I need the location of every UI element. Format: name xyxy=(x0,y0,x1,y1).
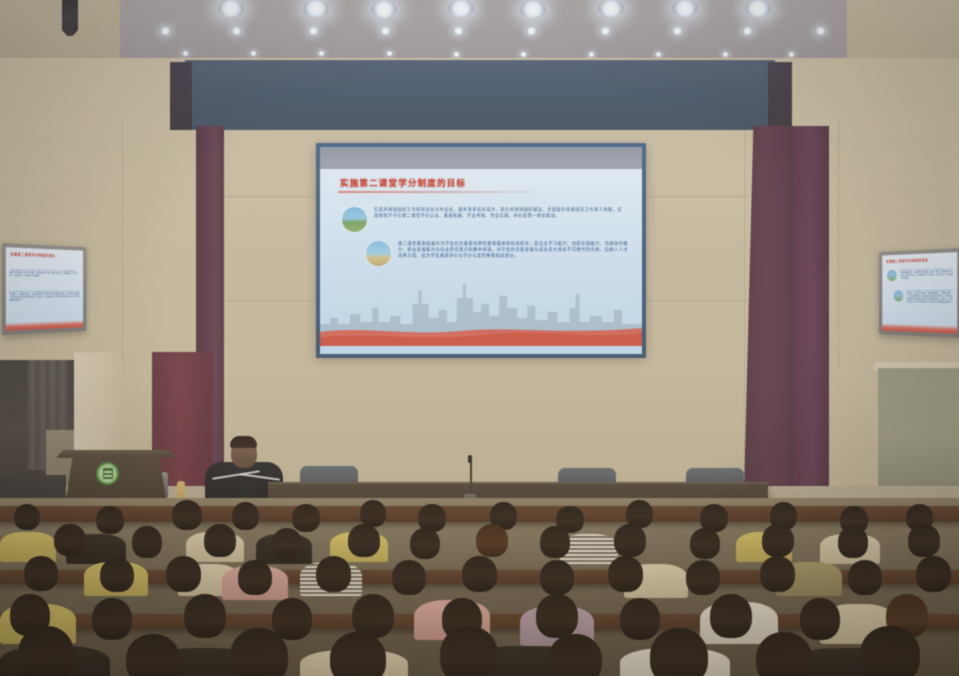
audience-head xyxy=(166,556,201,592)
audience-head xyxy=(860,626,920,676)
audience-head xyxy=(126,634,180,676)
stage-valance xyxy=(185,60,775,130)
audience-head xyxy=(686,560,720,595)
audience-head xyxy=(476,524,508,557)
stage-curtain-right-outer xyxy=(793,126,829,496)
monitor-slide-text: 实现共青团组织工作的常态化与专业化，服务青年成长成才，助力共青团组织建设，全面提… xyxy=(900,268,954,282)
screen-surface: 实施第二课堂学分制度的目标 实现共青团组织工作的常态化与专业化，服务青年成长成才… xyxy=(320,147,642,354)
audience-head xyxy=(96,506,124,534)
recessed-downlight xyxy=(250,51,257,56)
recessed-downlight xyxy=(722,52,729,57)
red-wave-graphic xyxy=(320,322,642,346)
audience-head xyxy=(360,500,386,527)
slide-title-underline xyxy=(338,191,538,193)
monitor-slide-text: 实现共青团组织工作的常态化与专业化，服务青年成长成才，助力共青团组织建设，全面提… xyxy=(10,269,79,287)
monitor-red-wave xyxy=(882,323,957,334)
recessed-downlight xyxy=(600,27,611,35)
audience-head xyxy=(650,628,708,676)
recessed-downlight xyxy=(788,52,795,57)
recessed-downlight xyxy=(318,51,325,56)
recessed-downlight xyxy=(520,1,546,18)
audience-head xyxy=(908,524,940,557)
monitor-slide-title: 实施第二课堂学分制度的目标 xyxy=(886,257,928,263)
monitor-slide-text: 第二课堂素质拓展作为学生综合素质培养的重要载体和有效抓手，是自主学习能力、创新实… xyxy=(10,291,80,307)
audience-head xyxy=(756,632,812,676)
recessed-downlight xyxy=(526,27,537,35)
audience-head xyxy=(614,524,646,557)
monitor-thumb-icon xyxy=(893,290,903,301)
auditorium-photo: 实施第二课堂学分制度的目标 实现共青团组织工作的常态化与专业化，服务青年成长成才… xyxy=(0,0,959,676)
audience-head xyxy=(54,524,86,556)
audience-head xyxy=(710,594,752,638)
emblem-mark xyxy=(103,468,113,479)
monitor-slide-text: 第二课堂素质拓展作为学生综合素质培养的重要载体和有效抓手，是自主学习能力、创新实… xyxy=(907,290,955,303)
audience-head xyxy=(548,634,602,676)
presentation-slide: 实施第二课堂学分制度的目标 实现共青团组织工作的常态化与专业化，服务青年成长成才… xyxy=(320,169,642,354)
valance-end-cap-left xyxy=(170,62,192,130)
recessed-downlight xyxy=(448,0,474,17)
audience-head xyxy=(14,504,40,530)
audience-head xyxy=(762,524,794,557)
audience-head xyxy=(230,628,288,676)
audience-head xyxy=(238,560,272,595)
recessed-downlight xyxy=(655,52,662,57)
monitor-screen-right: 实施第二课堂学分制度的目标 实现共青团组织工作的常态化与专业化，服务青年成长成才… xyxy=(882,252,957,334)
screen-top-band xyxy=(320,147,642,169)
gooseneck-microphone[interactable] xyxy=(470,458,472,496)
recessed-downlight xyxy=(520,52,527,57)
recessed-downlight xyxy=(160,27,171,35)
monitor-thumb-icon xyxy=(887,270,897,281)
audience-head xyxy=(184,594,226,638)
recessed-downlight xyxy=(303,0,329,17)
speaker-hair xyxy=(230,436,257,448)
audience-head xyxy=(410,528,440,559)
recessed-downlight xyxy=(380,27,391,35)
audience-head xyxy=(18,626,74,676)
seaside-photo-thumb-icon xyxy=(366,241,391,266)
audience-head xyxy=(272,528,302,559)
microphone-capsule-icon xyxy=(468,455,472,463)
audience-head xyxy=(232,502,259,530)
recessed-downlight xyxy=(672,0,698,17)
wall-seam xyxy=(744,128,745,488)
recessed-downlight xyxy=(308,27,319,35)
audience-head xyxy=(540,526,570,558)
audience-head xyxy=(392,560,426,595)
institution-emblem-icon xyxy=(96,462,119,485)
slide-bullet-text: 实现共青团组织工作的常态化与专业化，服务青年成长成才，助力共青团组织建设，全面提… xyxy=(374,207,622,219)
audience-head xyxy=(172,500,202,530)
recessed-downlight xyxy=(598,0,624,17)
ceiling-left-wing xyxy=(0,0,120,62)
audience-head xyxy=(330,632,386,676)
audience-head xyxy=(100,558,134,592)
main-projection-screen[interactable]: 实施第二课堂学分制度的目标 实现共青团组织工作的常态化与专业化，服务青年成长成才… xyxy=(316,143,646,358)
recessed-downlight xyxy=(588,52,595,57)
recessed-downlight xyxy=(371,1,397,18)
recessed-downlight xyxy=(453,52,460,57)
audience-head xyxy=(24,556,58,591)
side-monitor-right[interactable]: 实施第二课堂学分制度的目标 实现共青团组织工作的常态化与专业化，服务青年成长成才… xyxy=(879,248,959,338)
audience-head xyxy=(838,526,868,558)
monitor-screen-left: 实施第二课堂学分制度的目标 实现共青团组织工作的常态化与专业化，服务青年成长成才… xyxy=(6,247,83,331)
slide-bullet-row: 第二课堂素质拓展作为学生综合素质培养的重要载体和有效抓手，是自主学习能力、创新实… xyxy=(366,241,628,266)
audience-head xyxy=(536,594,578,638)
slide-title: 实施第二课堂学分制度的目标 xyxy=(340,177,466,189)
recessed-downlight xyxy=(672,27,683,35)
audience-head xyxy=(800,598,840,640)
slide-bullet-text: 第二课堂素质拓展作为学生综合素质培养的重要载体和有效抓手，是自主学习能力、创新实… xyxy=(398,241,628,260)
audience-head xyxy=(292,504,320,532)
recessed-downlight xyxy=(453,27,464,35)
audience-head xyxy=(132,526,162,558)
ceiling-right-wing xyxy=(847,0,959,64)
audience-head xyxy=(608,556,643,592)
recessed-downlight xyxy=(218,0,244,17)
valance-end-cap-right xyxy=(768,62,792,130)
audience-head xyxy=(316,556,351,592)
recessed-downlight xyxy=(182,51,189,56)
recessed-downlight xyxy=(815,27,826,35)
audience-head xyxy=(620,598,660,640)
monitor-slide-title: 实施第二课堂学分制度的目标 xyxy=(10,251,55,258)
recessed-downlight xyxy=(742,27,753,35)
audience-head xyxy=(348,524,380,557)
audience-head xyxy=(848,560,882,595)
ceiling-speaker-icon xyxy=(62,0,78,34)
recessed-downlight xyxy=(745,0,771,17)
slide-bullet-row: 实现共青团组织工作的常态化与专业化，服务青年成长成才，助力共青团组织建设，全面提… xyxy=(342,207,622,232)
monitor-red-wave xyxy=(6,320,83,331)
landscape-photo-thumb-icon xyxy=(342,207,367,232)
audience-head xyxy=(760,556,795,592)
audience-head xyxy=(92,598,132,640)
wall-seam xyxy=(838,120,839,370)
desk-row-back xyxy=(0,506,959,522)
recessed-downlight xyxy=(386,51,393,56)
wall-seam xyxy=(122,120,123,360)
side-monitor-left[interactable]: 实施第二课堂学分制度的目标 实现共青团组织工作的常态化与专业化，服务青年成长成才… xyxy=(2,243,86,335)
audience-head xyxy=(440,626,498,676)
student-audience xyxy=(0,498,959,676)
audience-head xyxy=(690,528,720,559)
audience-head xyxy=(540,560,574,595)
audience-head xyxy=(204,524,236,557)
audience-head xyxy=(916,556,951,592)
recessed-downlight xyxy=(231,27,242,35)
audience-head xyxy=(462,556,497,592)
